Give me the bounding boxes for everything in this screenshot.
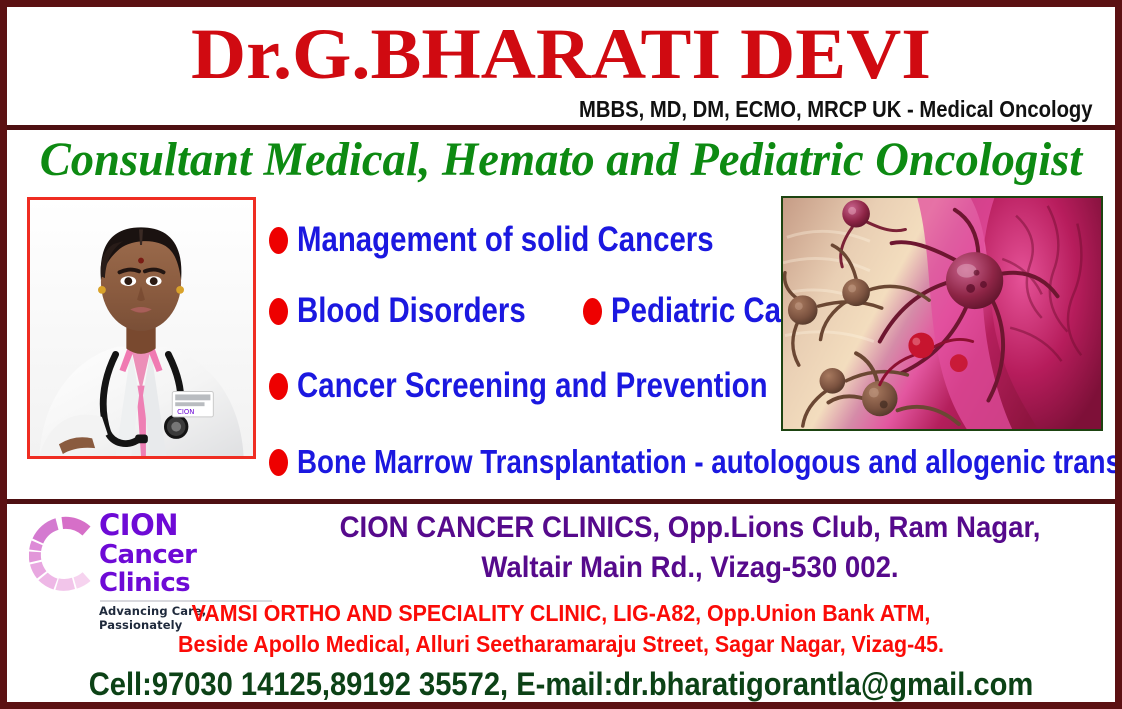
cancer-cells-image (781, 196, 1103, 431)
cion-brand: CION (99, 511, 279, 540)
secondary-address-line-1: VAMSI ORTHO AND SPECIALITY CLINIC, LIG-A… (53, 598, 1069, 629)
specialty-tagline: Consultant Medical, Hemato and Pediatric… (24, 131, 1099, 189)
doctor-advertisement-card: Dr.G.BHARATI DEVI MBBS, MD, DM, ECMO, MR… (0, 0, 1122, 709)
service-label: Cancer Screening and Prevention (297, 367, 768, 405)
tagline-band: Consultant Medical, Hemato and Pediatric… (7, 130, 1115, 192)
secondary-address-line-2: Beside Apollo Medical, Alluri Seetharama… (53, 629, 1069, 660)
primary-address-line-2: Waltair Main Rd., Vizag-530 002. (308, 548, 1072, 588)
service-label: Bone Marrow Transplantation - autologous… (297, 443, 1122, 481)
card-body: CION Management of solid Cancers Blood D… (7, 192, 1115, 504)
segmented-c-ring-icon (29, 510, 103, 598)
service-item-4: Bone Marrow Transplantation - autologous… (269, 424, 1105, 500)
bullet-icon (583, 298, 602, 325)
bullet-icon (269, 373, 288, 400)
doctor-name: Dr.G.BHARATI DEVI (0, 11, 1122, 97)
bullet-icon (269, 449, 288, 476)
cion-brand-line2: Cancer Clinics (99, 541, 279, 597)
doctor-photo: CION (27, 197, 256, 459)
contact-details: Cell:97030 14125,89192 35572, E-mail:dr.… (62, 662, 1059, 706)
primary-address-line-1: CION CANCER CLINICS, Opp.Lions Club, Ram… (308, 508, 1072, 548)
cancer-cells-illustration (783, 198, 1101, 429)
secondary-clinic-address: VAMSI ORTHO AND SPECIALITY CLINIC, LIG-A… (53, 598, 1069, 660)
service-label: Blood Disorders (297, 292, 526, 330)
bullet-icon (269, 227, 288, 254)
service-label: Management of solid Cancers (297, 221, 714, 259)
card-header: Dr.G.BHARATI DEVI MBBS, MD, DM, ECMO, MR… (7, 7, 1115, 130)
bullet-icon (269, 298, 288, 325)
primary-clinic-address: CION CANCER CLINICS, Opp.Lions Club, Ram… (308, 508, 1072, 588)
doctor-portrait-illustration: CION (30, 200, 253, 456)
doctor-qualifications: MBBS, MD, DM, ECMO, MRCP UK - Medical On… (579, 96, 1093, 123)
cion-ring-icon (29, 510, 103, 598)
svg-text:CION: CION (177, 408, 194, 416)
card-footer: CION Cancer Clinics Advancing Care, Pass… (7, 504, 1115, 709)
cion-logo: CION Cancer Clinics Advancing Care, Pass… (21, 508, 273, 600)
